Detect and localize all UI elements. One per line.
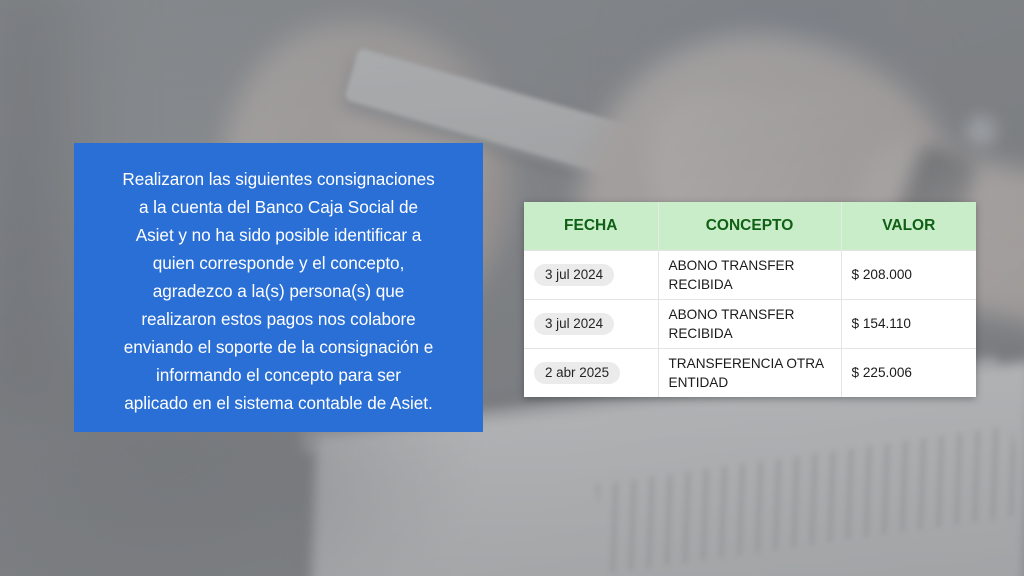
table-row: 2 abr 2025 TRANSFERENCIA OTRA ENTIDAD $ … xyxy=(524,348,976,397)
cell-concepto: ABONO TRANSFER RECIBIDA xyxy=(658,299,841,348)
date-pill: 2 abr 2025 xyxy=(534,362,620,384)
column-header-valor: VALOR xyxy=(841,202,976,250)
cell-valor: $ 154.110 xyxy=(841,299,976,348)
date-pill: 3 jul 2024 xyxy=(534,313,614,335)
column-header-fecha: FECHA xyxy=(524,202,658,250)
message-box: Realizaron las siguientes consignaciones… xyxy=(74,143,483,432)
cell-valor: $ 208.000 xyxy=(841,250,976,299)
table-row: 3 jul 2024 ABONO TRANSFER RECIBIDA $ 208… xyxy=(524,250,976,299)
date-pill: 3 jul 2024 xyxy=(534,264,614,286)
transactions-table: FECHA CONCEPTO VALOR 3 jul 2024 ABONO TR… xyxy=(524,202,976,397)
column-header-concepto: CONCEPTO xyxy=(658,202,841,250)
table-header-row: FECHA CONCEPTO VALOR xyxy=(524,202,976,250)
slide-canvas: Realizaron las siguientes consignaciones… xyxy=(0,0,1024,576)
table-header: FECHA CONCEPTO VALOR xyxy=(524,202,976,250)
cell-fecha: 3 jul 2024 xyxy=(524,250,658,299)
cell-valor: $ 225.006 xyxy=(841,348,976,397)
cell-concepto: ABONO TRANSFER RECIBIDA xyxy=(658,250,841,299)
message-text: Realizaron las siguientes consignaciones… xyxy=(122,165,434,417)
transactions-table-container: FECHA CONCEPTO VALOR 3 jul 2024 ABONO TR… xyxy=(524,202,976,397)
table-row: 3 jul 2024 ABONO TRANSFER RECIBIDA $ 154… xyxy=(524,299,976,348)
cell-fecha: 3 jul 2024 xyxy=(524,299,658,348)
cell-fecha: 2 abr 2025 xyxy=(524,348,658,397)
table-body: 3 jul 2024 ABONO TRANSFER RECIBIDA $ 208… xyxy=(524,250,976,397)
cell-concepto: TRANSFERENCIA OTRA ENTIDAD xyxy=(658,348,841,397)
